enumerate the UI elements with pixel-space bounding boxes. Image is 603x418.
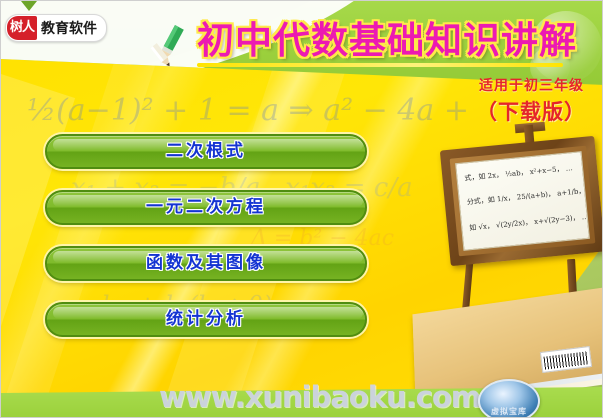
menu-item-label: 一元二次方程 <box>47 192 365 223</box>
logo-brand-text: 教育软件 <box>41 18 97 38</box>
whiteboard: 式，如 2x， ½ab， x²+x−5， … 分式，如 1/x， 25/(a+b… <box>455 151 590 251</box>
menu-item-statistics[interactable]: 统计分析 <box>45 302 367 337</box>
board-line: 分式，如 1/x， 25/(a+b)， a+1/b， … <box>466 185 590 207</box>
pencils-icon <box>147 23 193 67</box>
menu-item-functions-graphs[interactable]: 函数及其图像 <box>45 246 367 281</box>
site-watermark: www.xunibaoku.com <box>159 380 480 414</box>
picture-frame: 式，如 2x， ½ab， x²+x−5， … 分式，如 1/x， 25/(a+b… <box>440 136 603 266</box>
site-seal-badge: 虚拟宝库 <box>478 379 540 418</box>
logo-mark: 树人 <box>7 16 37 40</box>
menu-item-label: 统计分析 <box>47 304 365 335</box>
site-seal-label: 虚拟宝库 <box>480 406 538 417</box>
brand-logo: 树人 教育软件 <box>5 14 107 42</box>
title-underline <box>197 63 563 67</box>
easel-illustration: 式，如 2x， ½ab， x²+x−5， … 分式，如 1/x， 25/(a+b… <box>419 127 603 393</box>
page-title: 初中代数基础知识讲解 <box>197 18 589 66</box>
menu-item-label: 函数及其图像 <box>47 248 365 279</box>
menu-item-label: 二次根式 <box>47 136 365 167</box>
version-note: （下载版） <box>476 96 586 126</box>
board-line: 式，如 2x， ½ab， x²+x−5， … <box>464 163 573 183</box>
grade-note: 适用于初三年级 <box>479 75 584 95</box>
picture-frame-inner: 式，如 2x， ½ab， x²+x−5， … 分式，如 1/x， 25/(a+b… <box>450 146 596 257</box>
menu-item-quadratic-radical[interactable]: 二次根式 <box>45 134 367 169</box>
main-menu: 二次根式 一元二次方程 函数及其图像 统计分析 <box>45 134 367 358</box>
board-line: 如 √x， √(2y/2x)， x+√(2y−3)， … <box>469 212 589 233</box>
menu-item-quadratic-equation[interactable]: 一元二次方程 <box>45 190 367 225</box>
application-window: ½(a−1)² + 1 = a ⇒ a² − 4a + x₁ + x₂ = −b… <box>0 0 603 418</box>
barcode-bars <box>543 351 588 369</box>
